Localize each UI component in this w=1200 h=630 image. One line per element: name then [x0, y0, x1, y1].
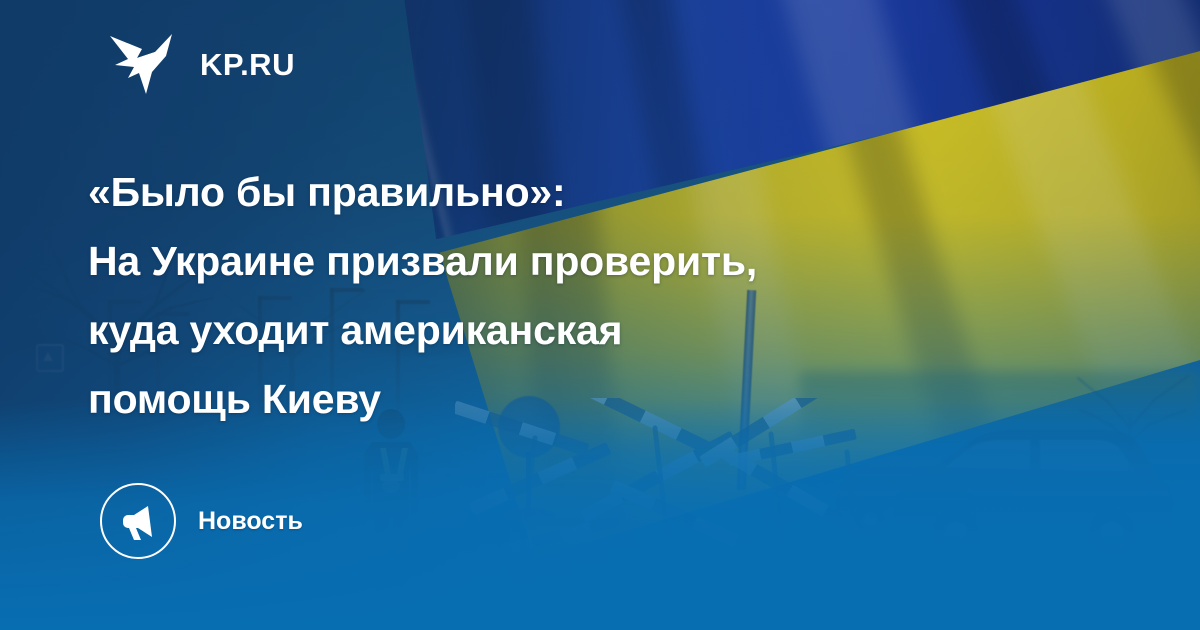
- headline: «Было бы правильно»: На Украине призвали…: [88, 158, 1108, 434]
- headline-line-3: куда уходит американская: [88, 296, 1108, 365]
- status-badge: Новость: [100, 483, 303, 559]
- swallow-bird-icon: [108, 32, 180, 96]
- card-content: KP.RU «Было бы правильно»: На Украине пр…: [0, 0, 1200, 630]
- brand-name: KP.RU: [200, 49, 295, 80]
- brand-logo[interactable]: KP.RU: [108, 32, 295, 96]
- headline-line-4: помощь Киеву: [88, 365, 1108, 434]
- social-share-card: KP.RU «Было бы правильно»: На Украине пр…: [0, 0, 1200, 630]
- headline-line-2: На Украине призвали проверить,: [88, 227, 1108, 296]
- megaphone-icon: [100, 483, 176, 559]
- badge-label: Новость: [198, 509, 303, 534]
- headline-line-1: «Было бы правильно»:: [88, 158, 1108, 227]
